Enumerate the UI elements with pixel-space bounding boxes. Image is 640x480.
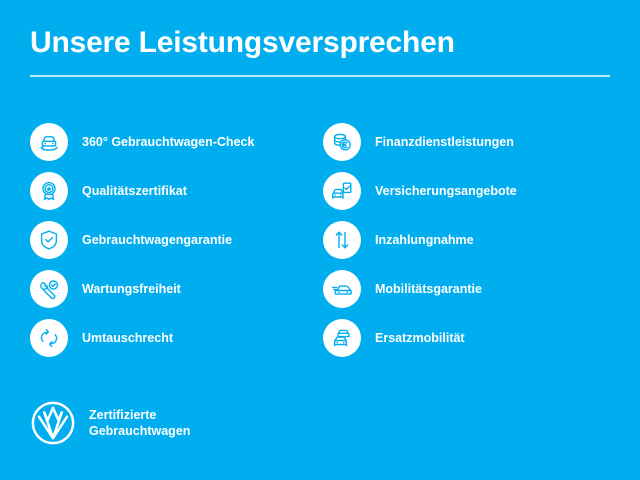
feature-item-qualitaetszertifikat[interactable]: Qualitätszertifikat xyxy=(30,171,323,211)
two-cars-icon xyxy=(323,319,361,357)
feature-label: Versicherungsangebote xyxy=(375,184,517,199)
feature-label: Gebrauchtwagengarantie xyxy=(82,233,232,248)
feature-label: Umtauschrecht xyxy=(82,331,173,346)
footer-text: Zertifizierte Gebrauchtwagen xyxy=(89,407,190,439)
feature-item-wartungsfreiheit[interactable]: Wartungsfreiheit xyxy=(30,269,323,309)
features-column-right: Finanzdienstleistungen Versicherungsange… xyxy=(323,122,616,358)
coins-euro-icon xyxy=(323,123,361,161)
feature-label: Wartungsfreiheit xyxy=(82,282,181,297)
exchange-arrows-icon xyxy=(30,319,68,357)
feature-label: Qualitätszertifikat xyxy=(82,184,187,199)
feature-item-mobilitaetsgarantie[interactable]: Mobilitätsgarantie xyxy=(323,269,616,309)
feature-item-umtauschrecht[interactable]: Umtauschrecht xyxy=(30,318,323,358)
feature-item-inzahlungnahme[interactable]: Inzahlungnahme xyxy=(323,220,616,260)
up-down-arrows-icon xyxy=(323,221,361,259)
header: Unsere Leistungsversprechen xyxy=(30,26,610,77)
shield-check-icon xyxy=(30,221,68,259)
feature-label: Inzahlungnahme xyxy=(375,233,474,248)
header-divider xyxy=(30,75,610,77)
feature-item-360-check[interactable]: 360° Gebrauchtwagen-Check xyxy=(30,122,323,162)
feature-item-gebrauchtwagengarantie[interactable]: Gebrauchtwagengarantie xyxy=(30,220,323,260)
car-360-check-icon xyxy=(30,123,68,161)
feature-item-finanzdienstleistungen[interactable]: Finanzdienstleistungen xyxy=(323,122,616,162)
car-document-icon xyxy=(323,172,361,210)
feature-label: Finanzdienstleistungen xyxy=(375,135,514,150)
features-column-left: 360° Gebrauchtwagen-Check Qualitätszerti… xyxy=(30,122,323,358)
leistungsversprechen-poster: Unsere Leistungsversprechen 360° Gebrauc xyxy=(0,0,640,480)
feature-item-ersatzmobilitaet[interactable]: Ersatzmobilität xyxy=(323,318,616,358)
volkswagen-logo xyxy=(30,400,76,446)
feature-label: 360° Gebrauchtwagen-Check xyxy=(82,135,254,150)
page-title: Unsere Leistungsversprechen xyxy=(30,26,610,61)
footer-logo-lockup: Zertifizierte Gebrauchtwagen xyxy=(30,400,190,446)
wrench-check-icon xyxy=(30,270,68,308)
award-rosette-icon xyxy=(30,172,68,210)
features-grid: 360° Gebrauchtwagen-Check Qualitätszerti… xyxy=(30,122,616,358)
feature-label: Mobilitätsgarantie xyxy=(375,282,482,297)
feature-label: Ersatzmobilität xyxy=(375,331,465,346)
feature-item-versicherungsangebote[interactable]: Versicherungsangebote xyxy=(323,171,616,211)
tow-car-icon xyxy=(323,270,361,308)
